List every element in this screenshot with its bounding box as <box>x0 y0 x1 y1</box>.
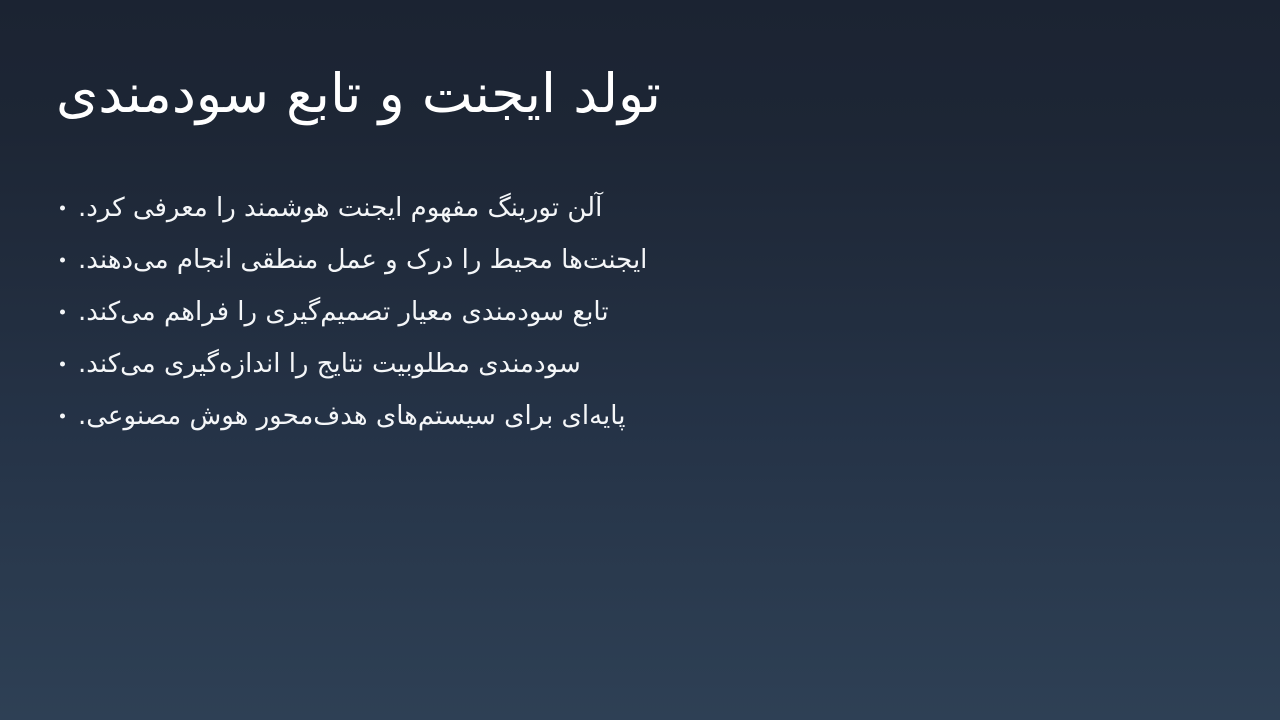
list-item-label: آلن تورینگ مفهوم ایجنت هوشمند را معرفی ک… <box>78 192 602 225</box>
list-item-label: سودمندی مطلوبیت نتایج را اندازه‌گیری می‌… <box>78 348 581 381</box>
list-item-label: تابع سودمندی معیار تصمیم‌گیری را فراهم م… <box>78 296 609 329</box>
list-item: پایه‌ای برای سیستم‌های هدف‌محور هوش مصنو… <box>56 390 1224 442</box>
bullet-dot-icon <box>60 258 65 263</box>
bullet-dot-icon <box>60 206 65 211</box>
list-item-label: پایه‌ای برای سیستم‌های هدف‌محور هوش مصنو… <box>78 400 625 433</box>
list-item: آلن تورینگ مفهوم ایجنت هوشمند را معرفی ک… <box>56 182 1224 234</box>
list-item-label: ایجنت‌ها محیط را درک و عمل منطقی انجام م… <box>78 244 647 277</box>
list-item: سودمندی مطلوبیت نتایج را اندازه‌گیری می‌… <box>56 338 1224 390</box>
slide-body-placeholder: آلن تورینگ مفهوم ایجنت هوشمند را معرفی ک… <box>56 182 1224 442</box>
presentation-slide: تولد ایجنت و تابع سودمندی آلن تورینگ مفه… <box>0 0 1280 720</box>
page-title: تولد ایجنت و تابع سودمندی <box>56 63 1224 125</box>
bullet-dot-icon <box>60 362 65 367</box>
bullet-dot-icon <box>60 310 65 315</box>
slide-title-placeholder: تولد ایجنت و تابع سودمندی <box>56 46 1224 142</box>
bullet-list: آلن تورینگ مفهوم ایجنت هوشمند را معرفی ک… <box>56 182 1224 442</box>
bullet-dot-icon <box>60 414 65 419</box>
list-item: تابع سودمندی معیار تصمیم‌گیری را فراهم م… <box>56 286 1224 338</box>
list-item: ایجنت‌ها محیط را درک و عمل منطقی انجام م… <box>56 234 1224 286</box>
